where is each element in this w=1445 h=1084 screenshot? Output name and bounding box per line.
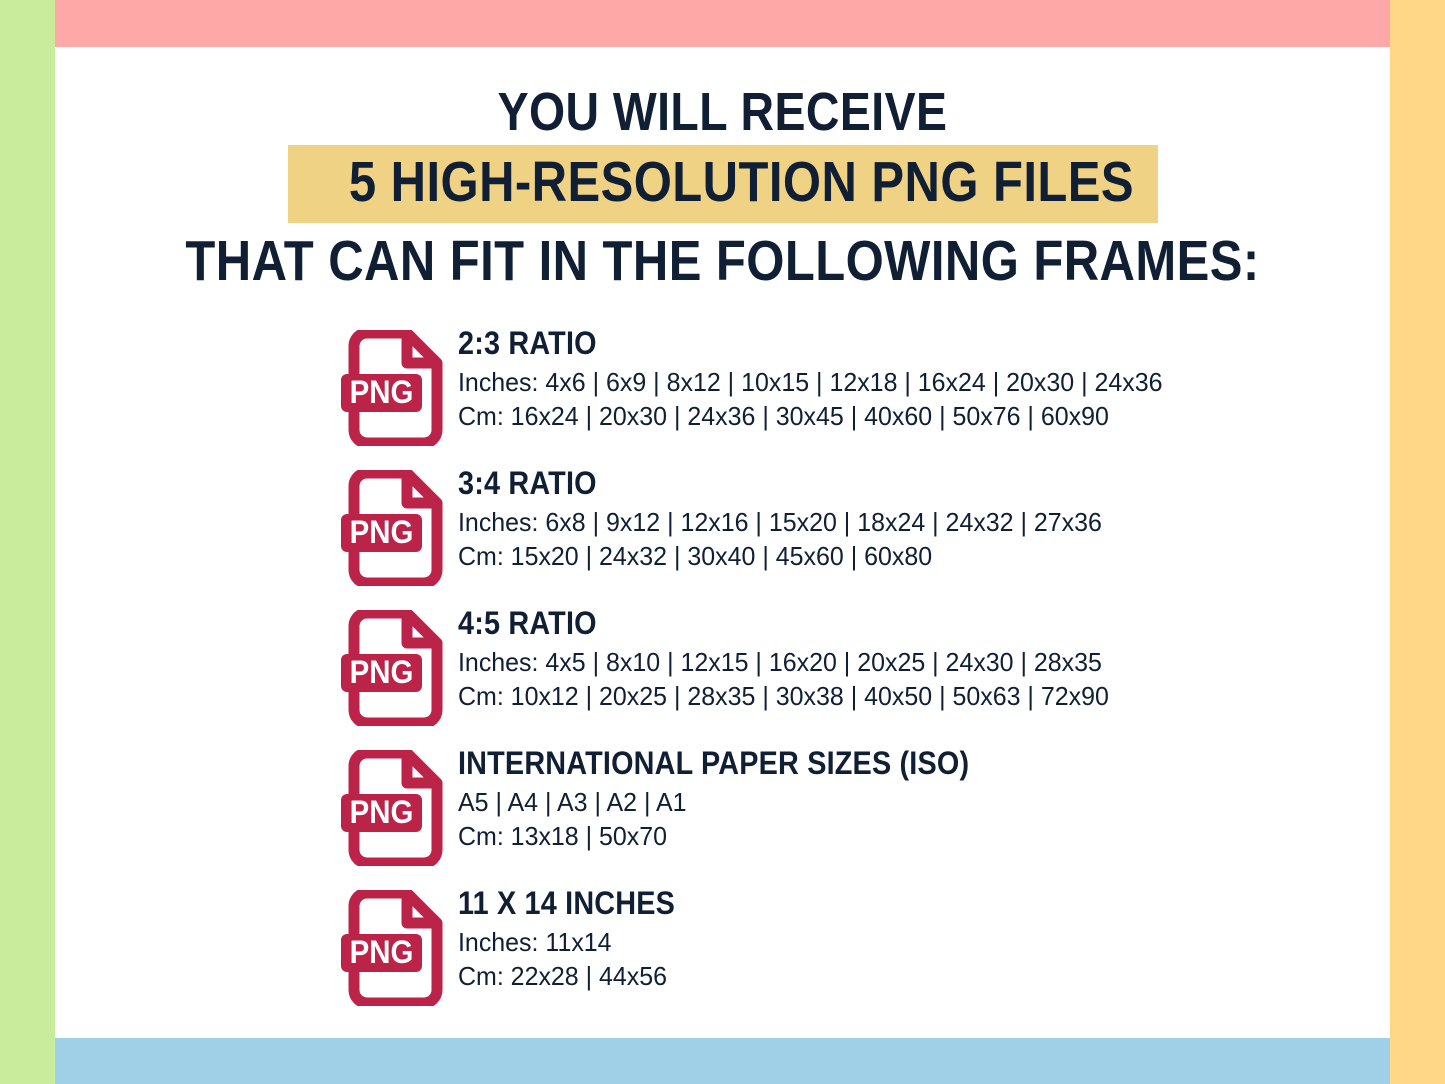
format-cm: Cm: 13x18 | 50x70	[458, 819, 1306, 854]
format-inches: Inches: 6x8 | 9x12 | 12x16 | 15x20 | 18x…	[458, 505, 1306, 540]
png-file-icon: PNG	[341, 470, 445, 586]
headline-line-3: THAT CAN FIT IN THE FOLLOWING FRAMES:	[148, 233, 1296, 290]
headline-block: YOU WILL RECEIVE 5 HIGH-RESOLUTION PNG F…	[55, 85, 1390, 290]
decorative-bar-bottom-blue	[55, 1038, 1390, 1084]
format-row: PNG 11 X 14 INCHES Inches: 11x14 Cm: 22x…	[341, 885, 1341, 1025]
png-file-icon-cell: PNG	[341, 745, 458, 866]
decorative-bar-top-pink	[55, 0, 1390, 47]
format-text-cell: 3:4 RATIO Inches: 6x8 | 9x12 | 12x16 | 1…	[458, 465, 1341, 574]
format-text-cell: INTERNATIONAL PAPER SIZES (ISO) A5 | A4 …	[458, 745, 1341, 854]
png-badge-label: PNG	[350, 794, 414, 830]
png-file-icon: PNG	[341, 750, 445, 866]
poster-canvas: YOU WILL RECEIVE 5 HIGH-RESOLUTION PNG F…	[0, 0, 1445, 1084]
png-badge-label: PNG	[350, 654, 414, 690]
png-badge-label: PNG	[350, 934, 414, 970]
headline-highlight-band: 5 HIGH-RESOLUTION PNG FILES	[288, 145, 1158, 223]
format-title: 3:4 RATIO	[458, 467, 1253, 501]
png-file-icon-cell: PNG	[341, 605, 458, 726]
format-cm: Cm: 16x24 | 20x30 | 24x36 | 30x45 | 40x6…	[458, 399, 1306, 434]
headline-line-2: 5 HIGH-RESOLUTION PNG FILES	[348, 154, 1096, 211]
format-title: 4:5 RATIO	[458, 607, 1253, 641]
format-list: PNG 2:3 RATIO Inches: 4x6 | 6x9 | 8x12 |…	[341, 325, 1341, 1025]
format-text-cell: 2:3 RATIO Inches: 4x6 | 6x9 | 8x12 | 10x…	[458, 325, 1341, 434]
format-title: INTERNATIONAL PAPER SIZES (ISO)	[458, 747, 1253, 781]
format-cm: Cm: 10x12 | 20x25 | 28x35 | 30x38 | 40x5…	[458, 679, 1306, 714]
png-file-icon: PNG	[341, 890, 445, 1006]
png-file-icon-cell: PNG	[341, 465, 458, 586]
png-file-icon: PNG	[341, 330, 445, 446]
headline-line-1: YOU WILL RECEIVE	[148, 85, 1296, 139]
format-title: 2:3 RATIO	[458, 327, 1253, 361]
png-badge-label: PNG	[350, 374, 414, 410]
format-inches: Inches: 4x6 | 6x9 | 8x12 | 10x15 | 12x18…	[458, 365, 1306, 400]
format-row: PNG INTERNATIONAL PAPER SIZES (ISO) A5 |…	[341, 745, 1341, 885]
png-badge-label: PNG	[350, 514, 414, 550]
format-inches: Inches: 4x5 | 8x10 | 12x15 | 16x20 | 20x…	[458, 645, 1306, 680]
png-file-icon-cell: PNG	[341, 885, 458, 1006]
format-inches: A5 | A4 | A3 | A2 | A1	[458, 785, 1306, 820]
format-row: PNG 2:3 RATIO Inches: 4x6 | 6x9 | 8x12 |…	[341, 325, 1341, 465]
decorative-bar-right-yellow	[1390, 0, 1445, 1084]
format-inches: Inches: 11x14	[458, 925, 1306, 960]
format-row: PNG 3:4 RATIO Inches: 6x8 | 9x12 | 12x16…	[341, 465, 1341, 605]
png-file-icon: PNG	[341, 610, 445, 726]
format-text-cell: 11 X 14 INCHES Inches: 11x14 Cm: 22x28 |…	[458, 885, 1341, 994]
format-title: 11 X 14 INCHES	[458, 887, 1253, 921]
content-area: YOU WILL RECEIVE 5 HIGH-RESOLUTION PNG F…	[55, 47, 1390, 1038]
decorative-bar-left-green	[0, 0, 55, 1084]
png-file-icon-cell: PNG	[341, 325, 458, 446]
format-text-cell: 4:5 RATIO Inches: 4x5 | 8x10 | 12x15 | 1…	[458, 605, 1341, 714]
format-cm: Cm: 15x20 | 24x32 | 30x40 | 45x60 | 60x8…	[458, 539, 1306, 574]
format-row: PNG 4:5 RATIO Inches: 4x5 | 8x10 | 12x15…	[341, 605, 1341, 745]
format-cm: Cm: 22x28 | 44x56	[458, 959, 1306, 994]
